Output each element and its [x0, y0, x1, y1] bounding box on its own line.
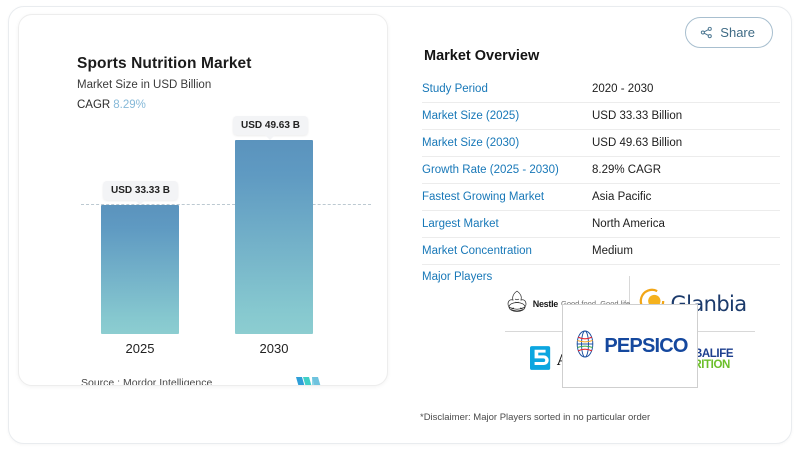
market-overview-title: Market Overview — [424, 48, 539, 64]
x-axis-label-2025: 2025 — [101, 341, 179, 356]
row-value: USD 33.33 Billion — [592, 110, 780, 122]
row-value: 8.29% CAGR — [592, 164, 780, 176]
row-value: 2020 - 2030 — [592, 83, 780, 95]
pepsico-wordmark: PEPSICO — [604, 335, 687, 358]
bar-2025 — [101, 205, 179, 334]
row-value: North America — [592, 218, 780, 230]
row-value: Medium — [592, 245, 780, 257]
market-report-page: Sports Nutrition Market Market Size in U… — [0, 0, 800, 450]
share-nodes-icon — [700, 26, 713, 39]
pepsico-logo: PEPSICO — [562, 304, 698, 388]
table-row: Market Concentration Medium — [422, 238, 780, 265]
share-button-label: Share — [720, 25, 755, 40]
row-value: Asia Pacific — [592, 191, 780, 203]
bar-value-label-2025: USD 33.33 B — [103, 181, 178, 200]
row-label: Fastest Growing Market — [422, 191, 592, 203]
source-label: Source : Mordor Intelligence — [81, 377, 212, 386]
market-overview-table: Study Period 2020 - 2030 Market Size (20… — [422, 76, 780, 295]
bar-value-label-2030: USD 49.63 B — [233, 116, 308, 135]
share-button[interactable]: Share — [685, 17, 773, 48]
row-value: USD 49.63 Billion — [592, 137, 780, 149]
nestle-wordmark: Nestle — [533, 299, 558, 309]
chart-card: Sports Nutrition Market Market Size in U… — [18, 14, 388, 386]
table-row: Market Size (2030) USD 49.63 Billion — [422, 130, 780, 157]
table-row: Market Size (2025) USD 33.33 Billion — [422, 103, 780, 130]
abbott-mark-icon — [530, 344, 552, 377]
row-label: Largest Market — [422, 218, 592, 230]
table-row: Fastest Growing Market Asia Pacific — [422, 184, 780, 211]
bar-2030 — [235, 140, 313, 334]
row-label: Market Size (2025) — [422, 110, 592, 122]
table-row: Study Period 2020 - 2030 — [422, 76, 780, 103]
table-row: Largest Market North America — [422, 211, 780, 238]
row-label: Market Size (2030) — [422, 137, 592, 149]
nestle-bird-nest-icon — [504, 289, 530, 319]
mordor-intelligence-logo — [296, 375, 324, 386]
disclaimer-text: *Disclaimer: Major Players sorted in no … — [420, 412, 650, 423]
pepsico-globe-icon — [572, 329, 598, 364]
table-row: Growth Rate (2025 - 2030) 8.29% CAGR — [422, 157, 780, 184]
major-players-logo-grid: Nestle Good food, Good life Glanbia — [505, 276, 755, 388]
x-axis-label-2030: 2030 — [235, 341, 313, 356]
row-label: Market Concentration — [422, 245, 592, 257]
row-label: Growth Rate (2025 - 2030) — [422, 164, 592, 176]
bar-chart-plot: USD 33.33 B USD 49.63 B 2025 2030 — [19, 15, 388, 386]
row-label: Study Period — [422, 83, 592, 95]
